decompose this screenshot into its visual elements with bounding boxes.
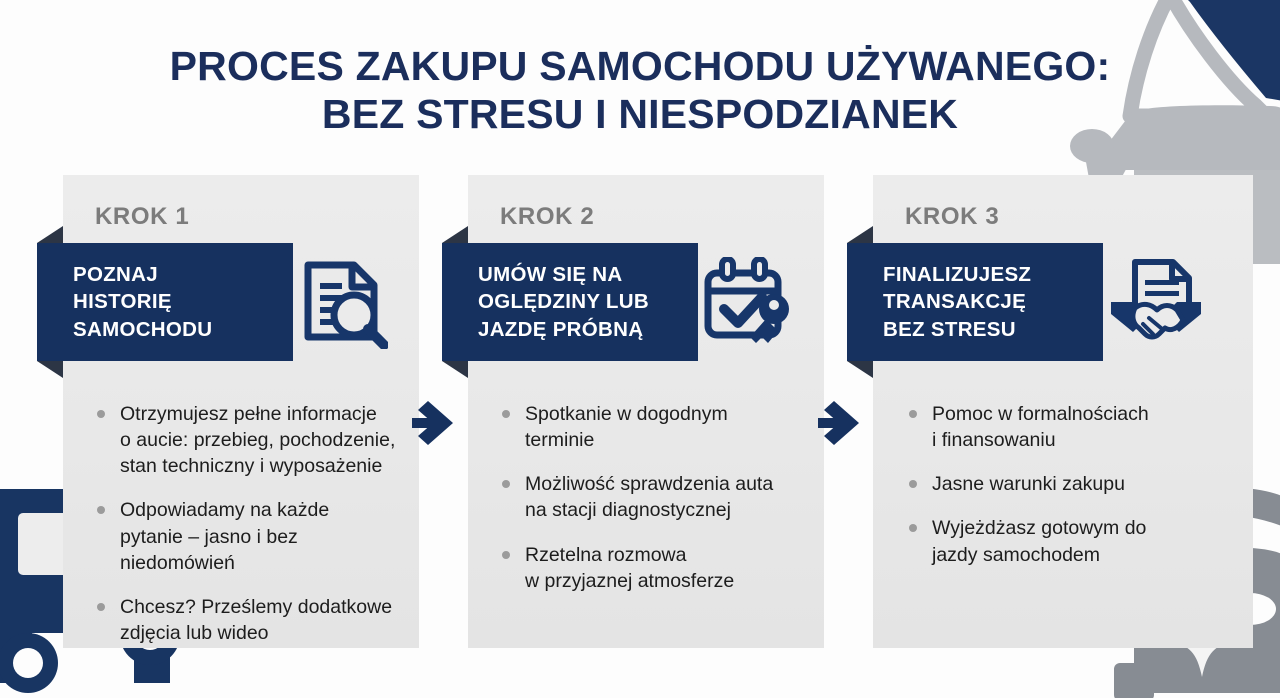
arrow-right-icon [818, 398, 862, 448]
step-banner-title-2: UMÓW SIĘ NA OGLĘDZINY LUB JAZDĘ PRÓBNĄ [478, 261, 649, 343]
page-title-line-2: BEZ STRESU I NIESPODZIANEK [0, 90, 1280, 138]
step-bullets-1: Otrzymujesz pełne informacje o aucie: pr… [95, 401, 401, 664]
step-banner-title-1: POZNAJ HISTORIĘ SAMOCHODU [73, 261, 212, 343]
list-item: Rzetelna rozmowa w przyjaznej atmosferze [500, 542, 806, 594]
ribbon-fold-top-1 [37, 226, 63, 243]
step-card-3: KROK 3 FINALIZUJESZ TRANSAKCJĘ BEZ STRES… [873, 175, 1253, 648]
document-magnifier-icon [291, 253, 393, 353]
list-item: Pomoc w formalnościach i finansowaniu [907, 401, 1227, 453]
infographic-canvas: PROCES ZAKUPU SAMOCHODU UŻYWANEGO: BEZ S… [0, 0, 1280, 698]
arrow-right-icon [412, 398, 456, 448]
step-label-2: KROK 2 [500, 203, 594, 231]
ribbon-fold-top-2 [442, 226, 468, 243]
ribbon-fold-bottom-1 [37, 361, 63, 378]
ribbon-fold-bottom-2 [442, 361, 468, 378]
step-banner-2: UMÓW SIĘ NA OGLĘDZINY LUB JAZDĘ PRÓBNĄ [442, 243, 698, 361]
step-banner-title-3: FINALIZUJESZ TRANSAKCJĘ BEZ STRESU [883, 261, 1031, 343]
page-title-line-1: PROCES ZAKUPU SAMOCHODU UŻYWANEGO: [0, 42, 1280, 90]
step-banner-1: POZNAJ HISTORIĘ SAMOCHODU [37, 243, 293, 361]
list-item: Odpowiadamy na każde pytanie – jasno i b… [95, 497, 401, 575]
handshake-document-icon [1105, 253, 1207, 353]
step-label-1: KROK 1 [95, 203, 189, 231]
list-item: Możliwość sprawdzenia auta na stacji dia… [500, 471, 806, 523]
steps-container: KROK 1 POZNAJ HISTORIĘ SAMOCHODU [0, 175, 1280, 650]
ribbon-fold-top-3 [847, 226, 873, 243]
list-item: Spotkanie w dogodnym terminie [500, 401, 806, 453]
list-item: Jasne warunki zakupu [907, 471, 1227, 497]
step-bullets-2: Spotkanie w dogodnym terminie Możliwość … [500, 401, 806, 612]
page-title: PROCES ZAKUPU SAMOCHODU UŻYWANEGO: BEZ S… [0, 42, 1280, 139]
list-item: Chcesz? Prześlemy dodatkowe zdjęcia lub … [95, 594, 401, 646]
calendar-check-key-icon [696, 253, 798, 353]
step-label-3: KROK 3 [905, 203, 999, 231]
step-bullets-3: Pomoc w formalnościach i finansowaniu Ja… [907, 401, 1227, 586]
step-card-2: KROK 2 UMÓW SIĘ NA OGLĘDZINY LUB JAZDĘ P… [468, 175, 824, 648]
step-banner-3: FINALIZUJESZ TRANSAKCJĘ BEZ STRESU [847, 243, 1103, 361]
list-item: Otrzymujesz pełne informacje o aucie: pr… [95, 401, 401, 479]
step-card-1: KROK 1 POZNAJ HISTORIĘ SAMOCHODU [63, 175, 419, 648]
ribbon-fold-bottom-3 [847, 361, 873, 378]
list-item: Wyjeżdżasz gotowym do jazdy samochodem [907, 515, 1227, 567]
